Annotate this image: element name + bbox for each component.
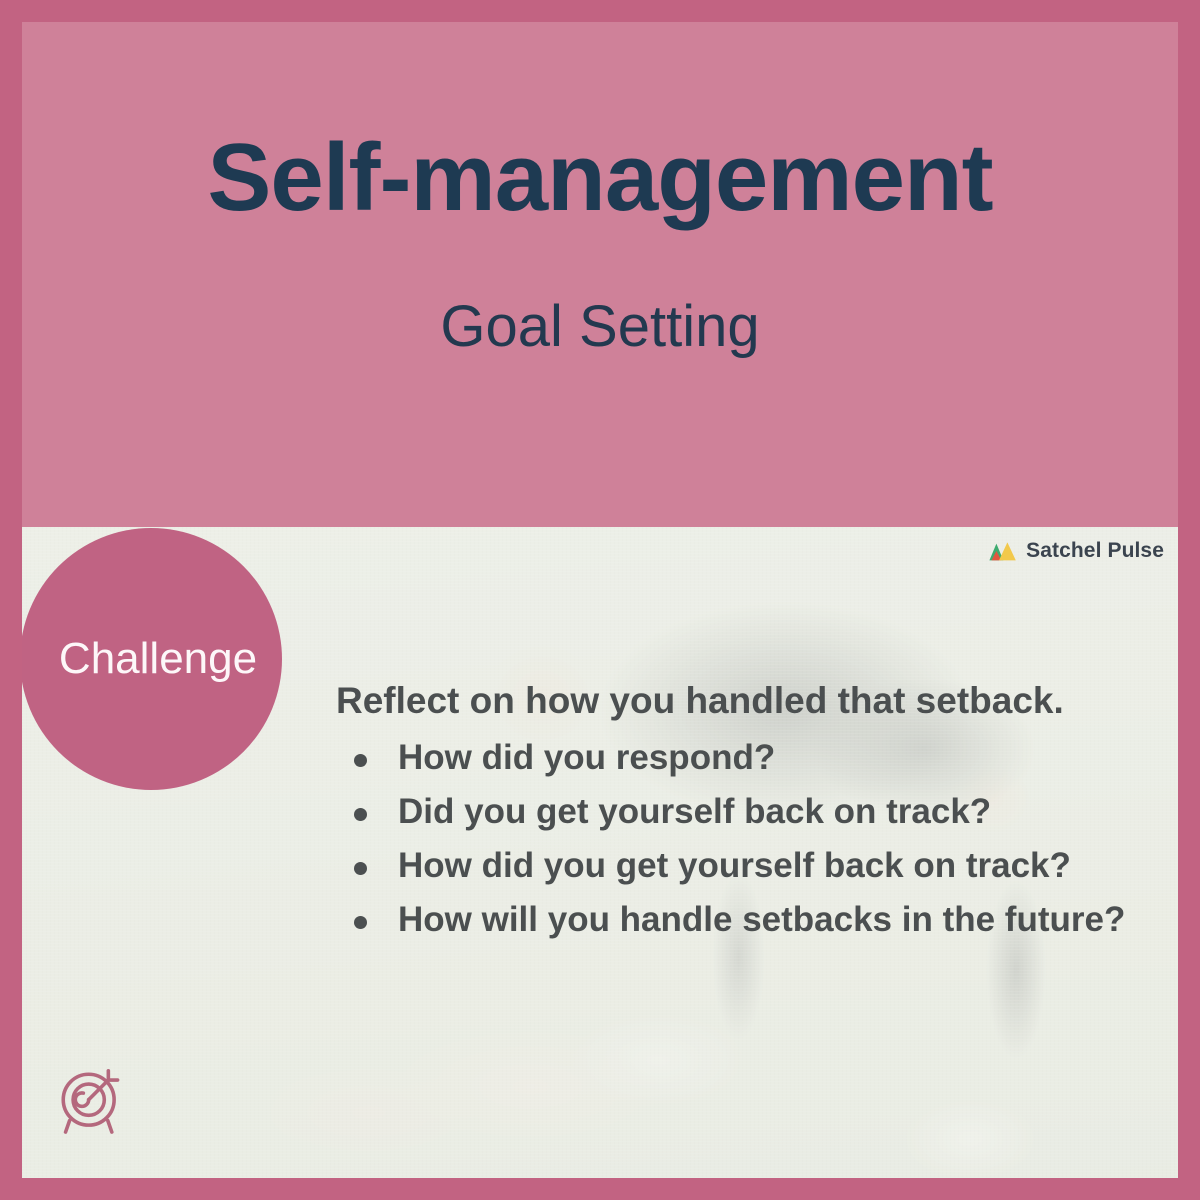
challenge-badge-label: Challenge [45,637,257,681]
list-item: How will you handle setbacks in the futu… [336,899,1156,941]
mountain-logo-icon [987,541,1017,562]
body-copy: Reflect on how you handled that setback.… [336,679,1156,953]
target-goal-icon [54,1065,128,1139]
challenge-badge: Challenge [22,528,282,790]
slide-content-panel: Challenge Satchel Pulse Reflect on how y… [22,527,1178,1178]
list-item: How did you respond? [336,737,1156,779]
list-item: How did you get yourself back on track? [336,845,1156,887]
list-item: Did you get yourself back on track? [336,791,1156,833]
slide-canvas: Self-management Goal Setting Challenge S… [0,0,1200,1200]
page-subtitle: Goal Setting [440,298,759,356]
slide-header: Self-management Goal Setting [22,22,1178,527]
reflection-question-list: How did you respond? Did you get yoursel… [336,737,1156,941]
lead-paragraph: Reflect on how you handled that setback. [336,679,1156,723]
brand-name-label: Satchel Pulse [1026,539,1164,563]
brand-logo: Satchel Pulse [987,539,1164,563]
page-title: Self-management [207,130,992,226]
